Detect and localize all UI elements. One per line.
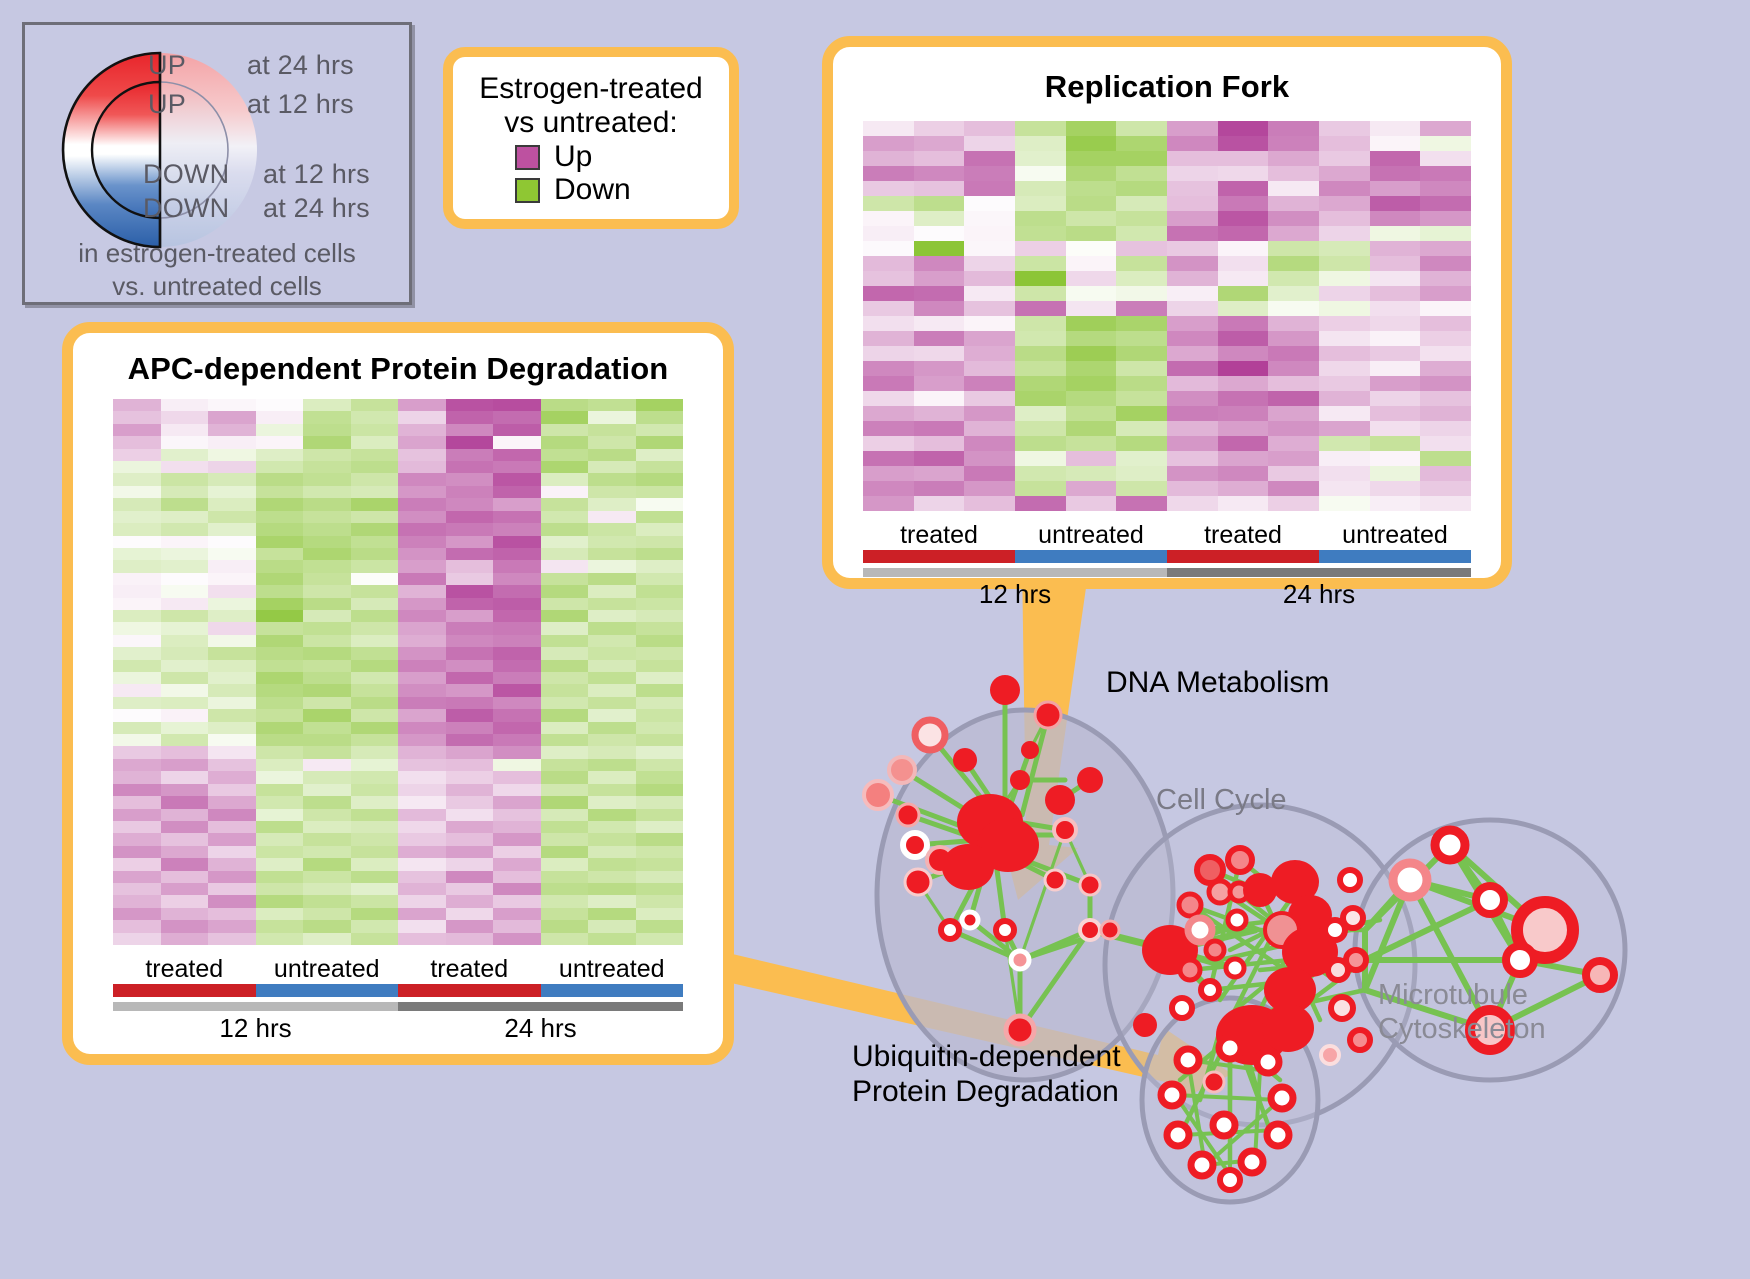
heatmap-cell bbox=[208, 424, 256, 436]
heatmap-cell bbox=[208, 548, 256, 560]
heatmap-cell bbox=[1218, 121, 1269, 136]
heatmap-cell bbox=[964, 196, 1015, 211]
heatmap-cell bbox=[161, 871, 209, 883]
heatmap-cell bbox=[161, 399, 209, 411]
heatmap-cell bbox=[398, 933, 446, 945]
bar-segment bbox=[398, 984, 541, 997]
heatmap-cell bbox=[351, 461, 399, 473]
heatmap-cell bbox=[161, 449, 209, 461]
heatmap-cell bbox=[1218, 256, 1269, 271]
heatmap-cell bbox=[303, 883, 351, 895]
heatmap-cell bbox=[493, 920, 541, 932]
heatmap-cell bbox=[256, 709, 304, 721]
heatmap-cell bbox=[398, 598, 446, 610]
heatmap-cell bbox=[161, 511, 209, 523]
heatmap-cell bbox=[1218, 286, 1269, 301]
heatmap-cell bbox=[493, 796, 541, 808]
heatmap-cell bbox=[446, 523, 494, 535]
up-color-swatch bbox=[515, 145, 540, 170]
heatmap-cell bbox=[256, 610, 304, 622]
heatmap-cell bbox=[636, 399, 684, 411]
heatmap-cell bbox=[351, 895, 399, 907]
heatmap-cell bbox=[303, 647, 351, 659]
heatmap-cell bbox=[208, 784, 256, 796]
heatmap-cell bbox=[636, 486, 684, 498]
heatmap-cell bbox=[161, 523, 209, 535]
heatmap-cell bbox=[256, 771, 304, 783]
legend-up-label: Up bbox=[554, 142, 592, 172]
bar-segment bbox=[1319, 550, 1471, 563]
heatmap-cell bbox=[303, 784, 351, 796]
cluster-label-dna-metabolism: DNA Metabolism bbox=[1106, 666, 1329, 701]
heatmap-cell bbox=[113, 424, 161, 436]
heatmap-cell bbox=[636, 424, 684, 436]
heatmap-cell bbox=[1218, 166, 1269, 181]
heatmap-cell bbox=[964, 226, 1015, 241]
heatmap-cell bbox=[863, 226, 914, 241]
heatmap-cell bbox=[588, 647, 636, 659]
heatmap-cell bbox=[914, 451, 965, 466]
heatmap-cell bbox=[636, 722, 684, 734]
heatmap-cell bbox=[161, 858, 209, 870]
heatmap-cell bbox=[636, 511, 684, 523]
legend-item-up: Up bbox=[515, 142, 729, 172]
heatmap-cell bbox=[1167, 181, 1218, 196]
heatmap-cell bbox=[446, 933, 494, 945]
heatmap-cell bbox=[113, 809, 161, 821]
heatmap-cell bbox=[493, 585, 541, 597]
heatmap-cell bbox=[446, 734, 494, 746]
heatmap-cell bbox=[1218, 466, 1269, 481]
heatmap-cell bbox=[1066, 346, 1117, 361]
heatmap-cell bbox=[1116, 451, 1167, 466]
heatmap-cell bbox=[588, 746, 636, 758]
heatmap-cell bbox=[351, 784, 399, 796]
heatmap-cell bbox=[541, 821, 589, 833]
heatmap-cell bbox=[1116, 421, 1167, 436]
heatmap-cell bbox=[1319, 166, 1370, 181]
heatmap-cell bbox=[1116, 496, 1167, 511]
heatmap-cell bbox=[351, 908, 399, 920]
heatmap-cell bbox=[208, 610, 256, 622]
heatmap-cell bbox=[493, 746, 541, 758]
heatmap-cell bbox=[208, 436, 256, 448]
heatmap-cell bbox=[208, 498, 256, 510]
heatmap-cell bbox=[964, 361, 1015, 376]
heatmap-cell bbox=[256, 672, 304, 684]
heatmap-cell bbox=[161, 697, 209, 709]
heatmap-cell bbox=[588, 858, 636, 870]
heatmap-cell bbox=[113, 895, 161, 907]
heatmap-cell bbox=[1420, 376, 1471, 391]
heatmap-cell bbox=[588, 498, 636, 510]
heatmap-cell bbox=[1370, 496, 1421, 511]
heatmap-cell bbox=[1167, 286, 1218, 301]
heatmap-cell bbox=[1319, 286, 1370, 301]
heatmap-cell bbox=[1370, 451, 1421, 466]
heatmap-cell bbox=[1420, 391, 1471, 406]
heatmap-cell bbox=[588, 411, 636, 423]
heatmap-cell bbox=[588, 598, 636, 610]
heatmap-cell bbox=[161, 796, 209, 808]
heatmap-cell bbox=[636, 585, 684, 597]
heatmap-cell bbox=[398, 536, 446, 548]
heatmap-cell bbox=[208, 846, 256, 858]
heatmap-cell bbox=[1116, 151, 1167, 166]
heatmap-cell bbox=[351, 399, 399, 411]
heatmap-cell bbox=[398, 411, 446, 423]
heatmap-cell bbox=[303, 920, 351, 932]
heatmap-cell bbox=[303, 908, 351, 920]
heatmap-cell bbox=[1015, 181, 1066, 196]
heatmap-cell bbox=[636, 598, 684, 610]
heatmap-cell bbox=[446, 759, 494, 771]
heatmap-cell bbox=[161, 759, 209, 771]
heatmap-cell bbox=[446, 585, 494, 597]
heatmap-cell bbox=[541, 610, 589, 622]
heatmap-cell bbox=[1319, 241, 1370, 256]
panel-title-apc: APC-dependent Protein Degradation bbox=[73, 351, 723, 387]
heatmap-cell bbox=[1167, 226, 1218, 241]
heatmap-cell bbox=[161, 908, 209, 920]
heatmap-cell bbox=[113, 585, 161, 597]
heatmap-cell bbox=[1015, 196, 1066, 211]
heatmap-cell bbox=[1015, 421, 1066, 436]
heatmap-cell bbox=[398, 573, 446, 585]
heatmap-cell bbox=[398, 709, 446, 721]
heatmap-cell bbox=[1167, 316, 1218, 331]
heatmap-cell bbox=[964, 406, 1015, 421]
heatmap-cell bbox=[256, 809, 304, 821]
heatmap-cell bbox=[256, 784, 304, 796]
heatmap-cell bbox=[588, 560, 636, 572]
heatmap-cell bbox=[1066, 496, 1117, 511]
heatmap-cell bbox=[113, 660, 161, 672]
heatmap-cell bbox=[636, 796, 684, 808]
heatmap-cell bbox=[1420, 301, 1471, 316]
heatmap-cell bbox=[351, 486, 399, 498]
heatmap-cell bbox=[588, 920, 636, 932]
heatmap-cell bbox=[588, 523, 636, 535]
heatmap-cell bbox=[351, 920, 399, 932]
heatmap-cell bbox=[541, 722, 589, 734]
heatmap-cell bbox=[964, 256, 1015, 271]
heatmap-cell bbox=[1015, 151, 1066, 166]
heatmap-cell bbox=[446, 697, 494, 709]
condition-color-bar-rf bbox=[863, 550, 1471, 563]
heatmap-cell bbox=[351, 548, 399, 560]
heatmap-cell bbox=[1116, 166, 1167, 181]
heatmap-cell bbox=[1218, 226, 1269, 241]
heatmap-cell bbox=[493, 858, 541, 870]
heatmap-cell bbox=[303, 746, 351, 758]
heatmap-cell bbox=[863, 136, 914, 151]
heatmap-cell bbox=[113, 883, 161, 895]
heatmap-cell bbox=[964, 136, 1015, 151]
heatmap-cell bbox=[351, 536, 399, 548]
heatmap-cell bbox=[446, 573, 494, 585]
heatmap-cell bbox=[113, 734, 161, 746]
heatmap-cell bbox=[1370, 331, 1421, 346]
heatmap-cell bbox=[1218, 451, 1269, 466]
heatmap-cell bbox=[1420, 271, 1471, 286]
heatmap-cell bbox=[256, 473, 304, 485]
heatmap-cell bbox=[256, 523, 304, 535]
heatmap-cell bbox=[863, 481, 914, 496]
heatmap-cell bbox=[914, 256, 965, 271]
heatmap-cell bbox=[161, 411, 209, 423]
heatmap-cell bbox=[914, 166, 965, 181]
heatmap-cell bbox=[161, 548, 209, 560]
heatmap-cell bbox=[588, 672, 636, 684]
heatmap-cell bbox=[541, 796, 589, 808]
heatmap-cell bbox=[1420, 331, 1471, 346]
heatmap-cell bbox=[113, 548, 161, 560]
heatmap-cell bbox=[351, 610, 399, 622]
heatmap-cell bbox=[1015, 376, 1066, 391]
heatmap-cell bbox=[446, 920, 494, 932]
heatmap-cell bbox=[1116, 256, 1167, 271]
heatmap-cell bbox=[1370, 436, 1421, 451]
heatmap-cell bbox=[351, 771, 399, 783]
heatmap-cell bbox=[1066, 331, 1117, 346]
heatmap-cell bbox=[493, 846, 541, 858]
heatmap-cell bbox=[541, 473, 589, 485]
heatmap-cell bbox=[964, 316, 1015, 331]
heatmap-cell bbox=[863, 361, 914, 376]
heatmap-cell bbox=[1116, 436, 1167, 451]
heatmap-cell bbox=[256, 511, 304, 523]
heatmap-cell bbox=[914, 391, 965, 406]
bar-segment bbox=[1167, 550, 1319, 563]
heatmap-cell bbox=[964, 286, 1015, 301]
heatmap-cell bbox=[1015, 361, 1066, 376]
heatmap-cell bbox=[863, 151, 914, 166]
heatmap-cell bbox=[256, 436, 304, 448]
heatmap-cell bbox=[493, 498, 541, 510]
heatmap-cell bbox=[493, 759, 541, 771]
heatmap-cell bbox=[1167, 241, 1218, 256]
heatmap-cell bbox=[1167, 451, 1218, 466]
heatmap-cell bbox=[256, 424, 304, 436]
heatmap-cell bbox=[303, 684, 351, 696]
timepoint-labels-apc: 12 hrs 24 hrs bbox=[113, 1013, 683, 1044]
heatmap-cell bbox=[964, 496, 1015, 511]
heatmap-cell bbox=[161, 895, 209, 907]
heatmap-cell bbox=[1420, 316, 1471, 331]
heatmap-cell bbox=[1066, 151, 1117, 166]
heatmap-cell bbox=[588, 908, 636, 920]
heatmap-cell bbox=[1319, 226, 1370, 241]
heatmap-cell bbox=[1268, 376, 1319, 391]
heatmap-cell bbox=[636, 933, 684, 945]
heatmap-cell bbox=[1116, 361, 1167, 376]
heatmap-cell bbox=[1218, 301, 1269, 316]
heatmap-cell bbox=[541, 461, 589, 473]
heatmap-cell bbox=[351, 809, 399, 821]
heatmap-cell bbox=[541, 399, 589, 411]
heatmap-cell bbox=[351, 622, 399, 634]
heatmap-cell bbox=[1268, 301, 1319, 316]
heatmap-cell bbox=[208, 858, 256, 870]
heatmap-cell bbox=[398, 734, 446, 746]
heatmap-cell bbox=[914, 481, 965, 496]
heatmap-cell bbox=[914, 271, 965, 286]
heatmap-cell bbox=[256, 647, 304, 659]
heatmap-cell bbox=[636, 573, 684, 585]
heatmap-cell bbox=[256, 796, 304, 808]
heatmap-cell bbox=[1268, 166, 1319, 181]
heatmap-cell bbox=[863, 211, 914, 226]
heatmap-cell bbox=[208, 833, 256, 845]
heatmap-cell bbox=[493, 809, 541, 821]
heatmap-cell bbox=[256, 548, 304, 560]
heatmap-cell bbox=[863, 346, 914, 361]
heatmap-cell bbox=[1116, 301, 1167, 316]
heatmap-cell bbox=[493, 523, 541, 535]
heatmap-cell bbox=[1319, 421, 1370, 436]
timepoint-label: 24 hrs bbox=[1167, 579, 1471, 610]
heatmap-cell bbox=[113, 858, 161, 870]
heatmap-cell bbox=[588, 511, 636, 523]
heatmap-cell bbox=[446, 449, 494, 461]
heatmap-cell bbox=[446, 684, 494, 696]
heatmap-cell bbox=[914, 316, 965, 331]
heatmap-cell bbox=[588, 833, 636, 845]
heatmap-cell bbox=[541, 660, 589, 672]
heatmap-cell bbox=[1218, 481, 1269, 496]
heatmap-cell bbox=[303, 560, 351, 572]
heatmap-cell bbox=[914, 436, 965, 451]
condition-label: untreated bbox=[541, 955, 684, 984]
condition-labels-apc: treated untreated treated untreated bbox=[113, 955, 683, 984]
heatmap-cell bbox=[208, 796, 256, 808]
heatmap-cell bbox=[863, 166, 914, 181]
heatmap-cell bbox=[1066, 436, 1117, 451]
heatmap-cell bbox=[1015, 316, 1066, 331]
heatmap-cell bbox=[541, 858, 589, 870]
heatmap-cell bbox=[914, 346, 965, 361]
bar-segment bbox=[541, 984, 684, 997]
timepoint-labels-rf: 12 hrs 24 hrs bbox=[863, 579, 1471, 610]
heatmap-cell bbox=[113, 871, 161, 883]
heatmap-cell bbox=[1319, 316, 1370, 331]
heatmap-cell bbox=[446, 511, 494, 523]
heatmap-cell bbox=[588, 473, 636, 485]
heatmap-cell bbox=[541, 511, 589, 523]
heatmap-cell bbox=[1370, 196, 1421, 211]
heatmap-cell bbox=[1218, 346, 1269, 361]
heatmap-cell bbox=[493, 908, 541, 920]
heatmap-cell bbox=[446, 871, 494, 883]
heatmap-cell bbox=[208, 871, 256, 883]
heatmap-cell bbox=[493, 722, 541, 734]
heatmap-cell bbox=[588, 883, 636, 895]
heatmap-cell bbox=[208, 660, 256, 672]
heatmap-cell bbox=[161, 585, 209, 597]
heatmap-cell bbox=[1268, 496, 1319, 511]
heatmap-cell bbox=[113, 759, 161, 771]
heatmap-cell bbox=[1167, 166, 1218, 181]
heatmap-cell bbox=[863, 271, 914, 286]
heatmap-cell bbox=[1167, 406, 1218, 421]
heatmap-cell bbox=[636, 560, 684, 572]
heatmap-cell bbox=[964, 466, 1015, 481]
heatmap-cell bbox=[493, 622, 541, 634]
heatmap-cell bbox=[113, 610, 161, 622]
heatmap-cell bbox=[964, 151, 1015, 166]
heatmap-cell bbox=[1370, 406, 1421, 421]
key-note-line1: in estrogen-treated cells bbox=[25, 237, 409, 270]
heatmap-cell bbox=[1218, 211, 1269, 226]
heatmap-cell bbox=[398, 771, 446, 783]
heatmap-cell bbox=[914, 361, 965, 376]
heatmap-cell bbox=[1015, 241, 1066, 256]
heatmap-cell bbox=[1015, 406, 1066, 421]
heatmap-cell bbox=[964, 421, 1015, 436]
heatmap-cell bbox=[398, 610, 446, 622]
heatmap-cell bbox=[541, 585, 589, 597]
heatmap-cell bbox=[256, 746, 304, 758]
heatmap-cell bbox=[113, 635, 161, 647]
heatmap-cell bbox=[1066, 451, 1117, 466]
heatmap-cell bbox=[446, 473, 494, 485]
heatmap-cell bbox=[113, 784, 161, 796]
heatmap-cell bbox=[636, 635, 684, 647]
heatmap-cell bbox=[398, 473, 446, 485]
heatmap-cell bbox=[1218, 316, 1269, 331]
heatmap-cell bbox=[1218, 421, 1269, 436]
heatmap-cell bbox=[208, 734, 256, 746]
heatmap-cell bbox=[113, 399, 161, 411]
heatmap-cell bbox=[398, 796, 446, 808]
heatmap-cell bbox=[588, 734, 636, 746]
heatmap-cell bbox=[208, 560, 256, 572]
heatmap-cell bbox=[303, 523, 351, 535]
heatmap-cell bbox=[208, 684, 256, 696]
heatmap-cell bbox=[113, 622, 161, 634]
heatmap-cell bbox=[446, 883, 494, 895]
heatmap-cell bbox=[1370, 181, 1421, 196]
heatmap-cell bbox=[863, 121, 914, 136]
heatmap-cell bbox=[446, 424, 494, 436]
heatmap-cell bbox=[636, 498, 684, 510]
heatmap-cell bbox=[208, 709, 256, 721]
heatmap-cell bbox=[1370, 211, 1421, 226]
heatmap-cell bbox=[351, 883, 399, 895]
heatmap-cell bbox=[113, 560, 161, 572]
heatmap-cell bbox=[446, 796, 494, 808]
heatmap-cell bbox=[161, 933, 209, 945]
heatmap-cell bbox=[351, 523, 399, 535]
heatmap-cell bbox=[1066, 301, 1117, 316]
down-color-swatch bbox=[515, 178, 540, 203]
heatmap-cell bbox=[1167, 121, 1218, 136]
heatmap-cell bbox=[113, 573, 161, 585]
heatmap-cell bbox=[1319, 406, 1370, 421]
heatmap-cell bbox=[351, 697, 399, 709]
heatmap-cell bbox=[636, 672, 684, 684]
heatmap-cell bbox=[398, 846, 446, 858]
heatmap-cell bbox=[636, 660, 684, 672]
heatmap-cell bbox=[964, 121, 1015, 136]
heatmap-cell bbox=[493, 660, 541, 672]
key-outer-up-time: at 24 hrs bbox=[247, 50, 354, 81]
heatmap-cell bbox=[1167, 211, 1218, 226]
heatmap-cell bbox=[1268, 436, 1319, 451]
heatmap-cell bbox=[493, 399, 541, 411]
heatmap-cell bbox=[398, 908, 446, 920]
